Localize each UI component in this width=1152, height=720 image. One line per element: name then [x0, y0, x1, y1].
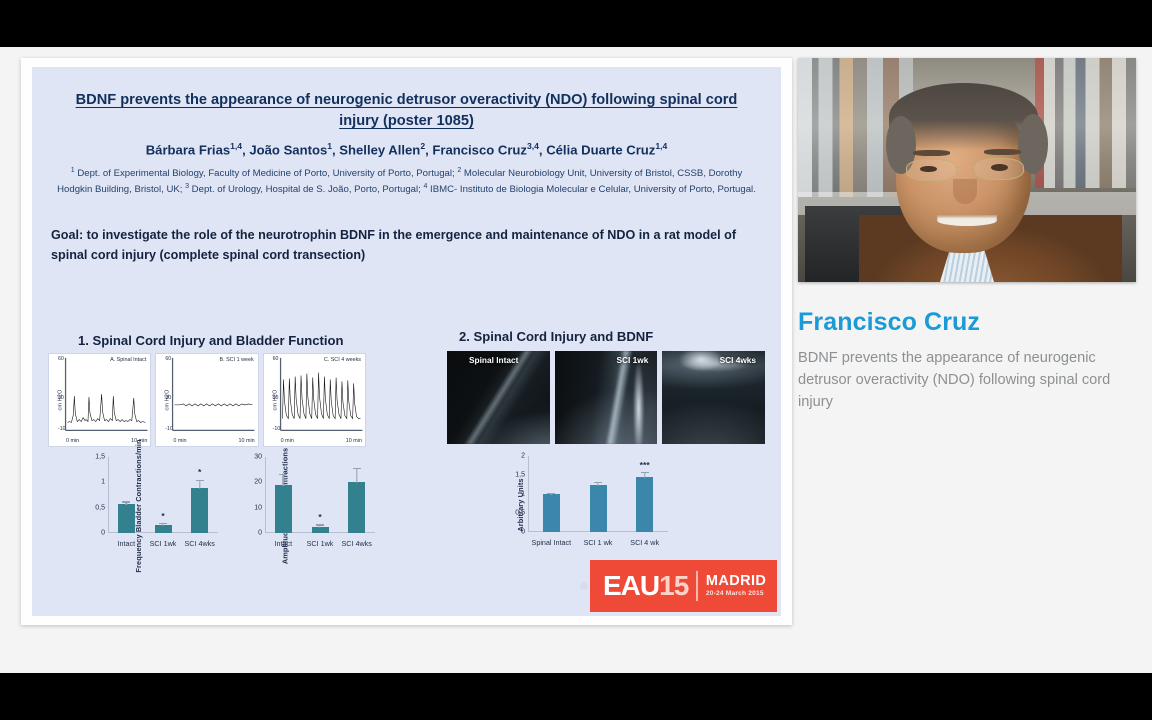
photo-mouth-smile: [937, 215, 998, 226]
affiliations: 1 Dept. of Experimental Biology, Faculty…: [56, 166, 757, 198]
bar-chart-3-xlabel: SCI 4 wk: [621, 538, 668, 547]
bar-chart-2-error-cap: [316, 524, 324, 525]
letterbox-bottom: [0, 673, 1152, 720]
photo-eye-left: [920, 166, 937, 173]
speaker-talk-title: BDNF prevents the appearance of neurogen…: [798, 347, 1118, 414]
eau-logo-text: EAU: [603, 570, 659, 601]
bar-chart-1-significance-marker: *: [198, 468, 201, 477]
eau-logo-year: 15: [659, 570, 688, 601]
bar-chart-2-xlabel: SCI 4wks: [338, 539, 375, 548]
micrograph-sci-1wk: SCI 1wk: [555, 351, 658, 444]
bar-chart-2-ytick-1: 10: [254, 504, 262, 511]
bar-chart-3-error-cap: [547, 493, 555, 494]
bar-chart-1-ytick-0: 0: [101, 530, 105, 537]
cystometry-trace-a: cm H2O A. Spinal Intact 60 30 -10 0 min …: [48, 353, 151, 447]
bar-chart-amplitude: Amplitude Bladder Contractions 30 20 10 …: [227, 451, 379, 561]
video-frame: BDNF prevents the appearance of neurogen…: [0, 0, 1152, 720]
photo-eye-right: [991, 164, 1008, 171]
micrograph-3-label: SCI 4wks: [720, 355, 756, 365]
cystometry-trace-b: cm H2O B. SCI 1 week 60 30 -10 0 min 10 …: [155, 353, 258, 447]
slide-bullet-dot: [580, 582, 588, 590]
bar-chart-2-ytick-3: 30: [254, 454, 262, 461]
micrograph-row: Spinal Intact SCI 1wk SCI 4wks: [447, 351, 765, 444]
trace-a-plot: [49, 354, 150, 446]
bar-chart-3-bar: [590, 485, 607, 533]
bar-chart-3-plot: 2 1,5 1 0,5 0 ***: [528, 456, 668, 532]
letterbox-top: [0, 0, 1152, 47]
micrograph-sci-4wks: SCI 4wks: [662, 351, 765, 444]
bar-chart-3-ytick-0: 0: [521, 529, 525, 536]
bar-chart-3-significance-marker: ***: [640, 461, 650, 470]
bar-chart-2-plot: 30 20 10 0 *: [265, 457, 375, 533]
bar-chart-2-xlabel: SCI 1wk: [302, 539, 339, 548]
bar-chart-3-bar: [543, 494, 560, 532]
bar-chart-1-xlabel: SCI 4wks: [181, 539, 218, 548]
bar-chart-1-bar: [118, 504, 135, 533]
bar-chart-2-error-cap: [353, 468, 361, 469]
bar-chart-2-bar: *: [312, 527, 329, 533]
bar-chart-3-ytick-1: 0,5: [515, 510, 525, 517]
bar-chart-1-column: *: [181, 457, 218, 533]
bar-chart-1-xlabels: IntactSCI 1wkSCI 4wks: [108, 539, 218, 548]
bar-chart-2-column: [338, 457, 375, 533]
bar-chart-3-bar: ***: [636, 477, 653, 532]
bar-chart-3-xlabel: SCI 1 wk: [575, 538, 622, 547]
bar-chart-1-error-bar: [126, 503, 127, 505]
trace-c-plot: [264, 354, 365, 446]
bar-chart-1-bar: *: [155, 525, 172, 533]
glasses-bridge: [957, 167, 974, 168]
photo-nose: [953, 179, 977, 204]
eau-logo-divider: [696, 571, 698, 601]
eau-logo-location-block: MADRID 20-24 March 2015: [706, 574, 766, 598]
bar-chart-3-column: [575, 456, 622, 532]
bar-chart-2-bars: *: [265, 457, 375, 533]
bar-chart-2-bar: [348, 482, 365, 533]
bar-chart-3-column: [528, 456, 575, 532]
bar-chart-1-column: *: [145, 457, 182, 533]
speaker-name: Francisco Cruz: [798, 308, 1139, 337]
micrograph-2-label: SCI 1wk: [617, 355, 649, 365]
trace-b-plot: [156, 354, 257, 446]
slide-title: BDNF prevents the appearance of neurogen…: [54, 90, 759, 131]
bar-chart-1-error-cap: [196, 480, 204, 481]
bar-chart-1-bar: *: [191, 488, 208, 533]
bar-chart-3-ytick-3: 1,5: [515, 472, 525, 479]
bar-chart-1-error-bar: [199, 481, 200, 490]
bar-chart-2-significance-marker: *: [318, 513, 321, 522]
bar-chart-1-error-cap: [159, 523, 167, 524]
bar-chart-1-xlabel: Intact: [108, 539, 145, 548]
section-2-heading: 2. Spinal Cord Injury and BDNF: [459, 329, 653, 344]
cystometry-trace-c: cm H2O C. SCI 4 weeks 60 30 -10 0 min 10…: [263, 353, 366, 447]
bar-chart-3-error-cap: [594, 482, 602, 483]
bar-chart-2-error-bar: [356, 469, 357, 483]
bar-chart-3-xlabels: Spinal IntactSCI 1 wkSCI 4 wk: [528, 538, 668, 547]
photo-brow-left: [913, 150, 950, 156]
bar-chart-2-error-cap: [279, 474, 287, 475]
bar-chart-1-xlabel: SCI 1wk: [145, 539, 182, 548]
bar-chart-3-error-bar: [551, 494, 552, 495]
bar-chart-1-plot: 1,5 1 0,5 0 **: [108, 457, 218, 533]
bar-chart-1-bars: **: [108, 457, 218, 533]
bar-chart-2-error-bar: [283, 475, 284, 486]
bar-chart-1-ytick-2: 1: [101, 479, 105, 486]
bar-chart-1-ytick-3: 1,5: [95, 454, 105, 461]
bar-chart-frequency: Frequency Bladder Contractions/min 1,5 1…: [72, 451, 222, 561]
goal-statement: Goal: to investigate the role of the neu…: [51, 225, 759, 265]
bar-chart-2-bar: [275, 485, 292, 533]
bar-chart-1-error-cap: [122, 501, 130, 502]
bar-chart-1-error-bar: [162, 524, 163, 526]
micrograph-1-label: Spinal Intact: [469, 355, 518, 365]
cystometry-trace-row: cm H2O A. Spinal Intact 60 30 -10 0 min …: [48, 353, 366, 447]
micrograph-spinal-intact: Spinal Intact: [447, 351, 550, 444]
bar-chart-3-ytick-4: 2: [521, 453, 525, 460]
eau15-congress-logo: EAU15 MADRID 20-24 March 2015: [590, 560, 777, 612]
bar-chart-2-xlabels: IntactSCI 1wkSCI 4wks: [265, 539, 375, 548]
photo-brow-right: [984, 149, 1021, 155]
bar-chart-2-ytick-0: 0: [258, 530, 262, 537]
bar-chart-3-xlabel: Spinal Intact: [528, 538, 575, 547]
bar-chart-3-ytick-2: 1: [521, 491, 525, 498]
bar-chart-2-xlabel: Intact: [265, 539, 302, 548]
bar-chart-3-error-bar: [597, 483, 598, 486]
eau-logo-dates: 20-24 March 2015: [706, 591, 766, 598]
bar-chart-3-column: ***: [621, 456, 668, 532]
bar-chart-2-column: *: [302, 457, 339, 533]
eau-logo-city: MADRID: [706, 574, 766, 589]
author-list: Bárbara Frias1,4, João Santos1, Shelley …: [48, 141, 765, 158]
speaker-panel: Francisco Cruz BDNF prevents the appeara…: [798, 58, 1139, 408]
eau-logo-wordmark: EAU15: [603, 572, 688, 600]
bar-chart-3-ylabel: Arbitrary Units: [516, 478, 525, 531]
bar-chart-2-column: [265, 457, 302, 533]
section-1-heading: 1. Spinal Cord Injury and Bladder Functi…: [78, 333, 344, 348]
presentation-slide: BDNF prevents the appearance of neurogen…: [32, 67, 781, 616]
bar-chart-3-error-cap: [641, 472, 649, 473]
speaker-photo: [798, 58, 1136, 282]
presentation-slide-frame[interactable]: BDNF prevents the appearance of neurogen…: [21, 58, 792, 625]
bar-chart-1-column: [108, 457, 145, 533]
bar-chart-3-bars: ***: [528, 456, 668, 532]
bar-chart-2-ytick-2: 20: [254, 479, 262, 486]
bar-chart-3-error-bar: [644, 473, 645, 478]
bar-chart-2-error-bar: [319, 526, 320, 528]
bar-chart-bdnf: Arbitrary Units 2 1,5 1 0,5 0 *** Spinal…: [494, 449, 674, 561]
photo-shelf-right: [1035, 58, 1136, 188]
bar-chart-1-significance-marker: *: [161, 512, 164, 521]
bar-chart-1-ytick-1: 0,5: [95, 504, 105, 511]
